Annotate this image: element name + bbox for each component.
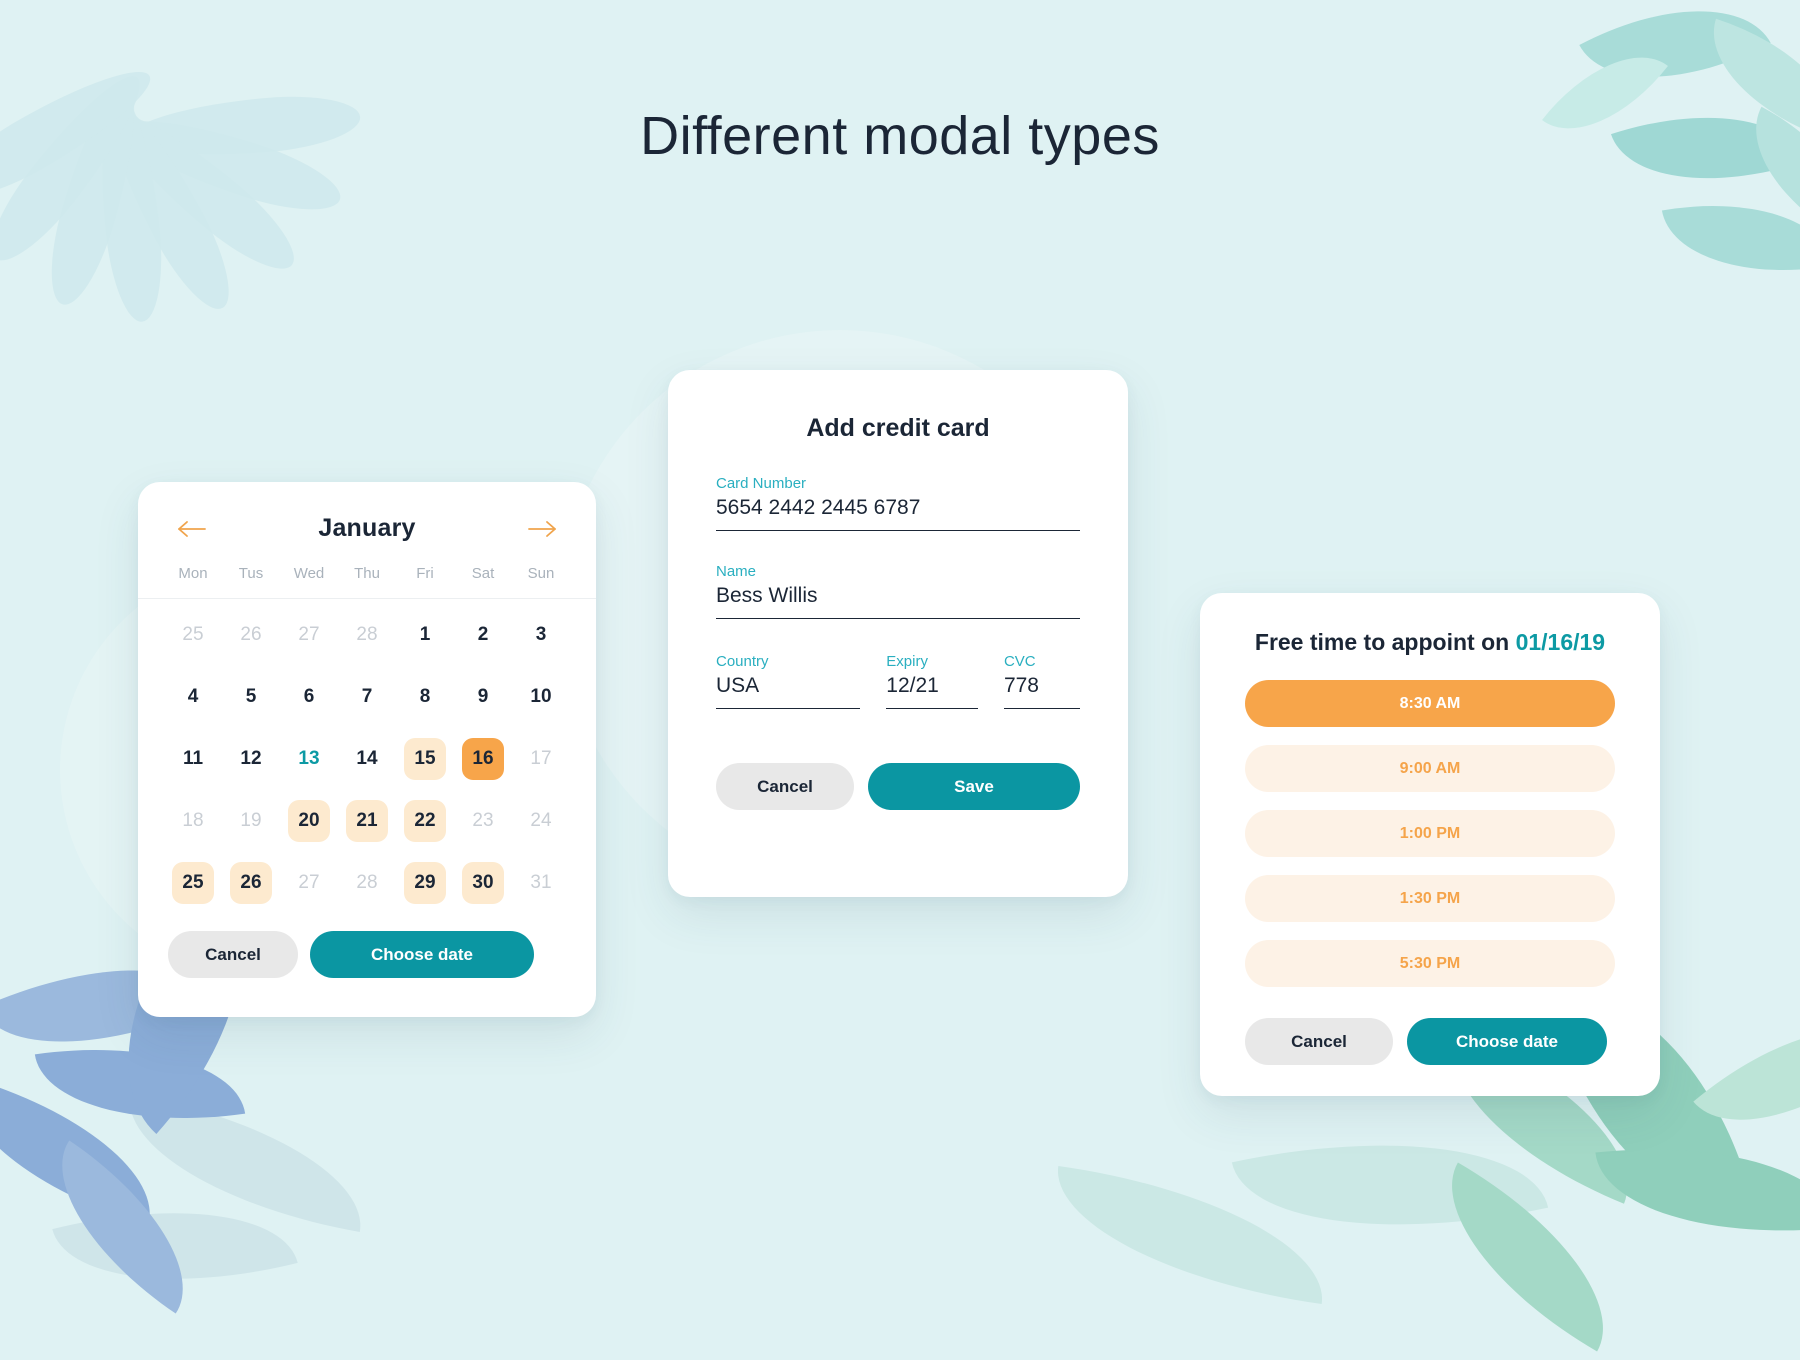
calendar-cancel-button[interactable]: Cancel [168,931,298,978]
calendar-day-cell[interactable]: 21 [338,791,396,851]
cvc-label: CVC [1004,653,1080,670]
credit-card-save-button[interactable]: Save [868,763,1080,810]
calendar-day-cell[interactable]: 7 [338,667,396,727]
calendar-weekday-row: MonTusWedThuFriSatSun [138,543,596,599]
time-slot[interactable]: 1:00 PM [1245,810,1615,857]
calendar-modal: January MonTusWedThuFriSatSun 2526272812… [138,482,596,1017]
calendar-day-label: 10 [520,676,562,718]
calendar-day-cell: 25 [164,605,222,665]
calendar-weekday-fri: Fri [396,565,454,598]
calendar-day-grid: 2526272812345678910111213141516171819202… [138,599,596,913]
time-slot[interactable]: 1:30 PM [1245,875,1615,922]
calendar-day-label: 25 [172,862,214,904]
calendar-day-label: 3 [520,614,562,656]
calendar-day-cell: 19 [222,791,280,851]
name-input[interactable]: Bess Willis [716,584,1080,619]
calendar-day-label: 27 [288,614,330,656]
expiry-input[interactable]: 12/21 [886,674,978,709]
calendar-day-label: 18 [172,800,214,842]
appointment-modal: Free time to appoint on 01/16/19 8:30 AM… [1200,593,1660,1096]
name-label: Name [716,563,1080,580]
calendar-day-label: 17 [520,738,562,780]
country-label: Country [716,653,860,670]
arrow-left-icon[interactable] [175,517,209,541]
calendar-weekday-wed: Wed [280,565,338,598]
calendar-day-label: 22 [404,800,446,842]
appointment-date: 01/16/19 [1516,629,1606,655]
time-slot[interactable]: 5:30 PM [1245,940,1615,987]
calendar-month-label: January [318,514,415,543]
credit-card-modal: Add credit card Card Number 5654 2442 24… [668,370,1128,897]
page-title: Different modal types [0,105,1800,167]
calendar-day-cell[interactable]: 3 [512,605,570,665]
calendar-day-cell[interactable]: 30 [454,853,512,913]
calendar-day-label: 16 [462,738,504,780]
calendar-day-label: 28 [346,862,388,904]
calendar-day-cell[interactable]: 15 [396,729,454,789]
calendar-day-cell[interactable]: 9 [454,667,512,727]
calendar-day-label: 21 [346,800,388,842]
calendar-day-label: 23 [462,800,504,842]
appointment-title: Free time to appoint on 01/16/19 [1200,593,1660,656]
calendar-day-label: 9 [462,676,504,718]
card-meta-row: Country USA Expiry 12/21 CVC 778 [716,653,1080,709]
calendar-day-label: 30 [462,862,504,904]
appointment-title-prefix: Free time to appoint on [1255,629,1516,655]
calendar-day-cell[interactable]: 8 [396,667,454,727]
calendar-day-label: 2 [462,614,504,656]
credit-card-fields: Card Number 5654 2442 2445 6787 Name Bes… [668,475,1128,709]
calendar-day-cell[interactable]: 22 [396,791,454,851]
appointment-cancel-button[interactable]: Cancel [1245,1018,1393,1065]
calendar-day-cell[interactable]: 10 [512,667,570,727]
calendar-day-label: 27 [288,862,330,904]
calendar-day-label: 25 [172,614,214,656]
calendar-weekday-tus: Tus [222,565,280,598]
calendar-day-cell[interactable]: 26 [222,853,280,913]
calendar-day-label: 19 [230,800,272,842]
calendar-day-label: 15 [404,738,446,780]
calendar-day-cell: 18 [164,791,222,851]
expiry-field[interactable]: Expiry 12/21 [886,653,978,709]
calendar-day-cell[interactable]: 4 [164,667,222,727]
credit-card-actions: Cancel Save [668,709,1128,810]
calendar-day-label: 26 [230,614,272,656]
calendar-day-cell: 17 [512,729,570,789]
calendar-day-cell: 26 [222,605,280,665]
card-number-input[interactable]: 5654 2442 2445 6787 [716,496,1080,531]
calendar-day-cell: 28 [338,605,396,665]
calendar-day-label: 1 [404,614,446,656]
calendar-day-label: 13 [288,738,330,780]
country-input[interactable]: USA [716,674,860,709]
calendar-day-cell: 28 [338,853,396,913]
time-slot[interactable]: 9:00 AM [1245,745,1615,792]
calendar-day-label: 11 [172,738,214,780]
calendar-day-cell[interactable]: 25 [164,853,222,913]
calendar-day-cell[interactable]: 16 [454,729,512,789]
country-field[interactable]: Country USA [716,653,860,709]
calendar-choose-date-button[interactable]: Choose date [310,931,534,978]
calendar-day-cell: 23 [454,791,512,851]
calendar-day-label: 31 [520,862,562,904]
calendar-day-cell: 24 [512,791,570,851]
calendar-actions: Cancel Choose date [138,913,596,978]
calendar-day-cell[interactable]: 29 [396,853,454,913]
card-number-label: Card Number [716,475,1080,492]
calendar-day-label: 6 [288,676,330,718]
calendar-day-label: 4 [172,676,214,718]
calendar-day-label: 12 [230,738,272,780]
credit-card-title: Add credit card [668,370,1128,443]
expiry-label: Expiry [886,653,978,670]
calendar-day-label: 7 [346,676,388,718]
calendar-day-label: 8 [404,676,446,718]
calendar-weekday-sun: Sun [512,565,570,598]
calendar-day-cell[interactable]: 1 [396,605,454,665]
cvc-input[interactable]: 778 [1004,674,1080,709]
calendar-day-label: 14 [346,738,388,780]
calendar-day-label: 29 [404,862,446,904]
cvc-field[interactable]: CVC 778 [1004,653,1080,709]
time-slot[interactable]: 8:30 AM [1245,680,1615,727]
credit-card-cancel-button[interactable]: Cancel [716,763,854,810]
appointment-choose-date-button[interactable]: Choose date [1407,1018,1607,1065]
calendar-weekday-sat: Sat [454,565,512,598]
calendar-day-cell[interactable]: 13 [280,729,338,789]
calendar-day-label: 28 [346,614,388,656]
calendar-day-cell[interactable]: 11 [164,729,222,789]
calendar-day-cell[interactable]: 14 [338,729,396,789]
calendar-header: January [138,482,596,543]
calendar-weekday-thu: Thu [338,565,396,598]
calendar-weekday-mon: Mon [164,565,222,598]
calendar-day-label: 26 [230,862,272,904]
card-number-field[interactable]: Card Number 5654 2442 2445 6787 [716,475,1080,531]
time-slot-list: 8:30 AM9:00 AM1:00 PM1:30 PM5:30 PM [1200,656,1660,987]
calendar-day-cell[interactable]: 5 [222,667,280,727]
calendar-day-label: 5 [230,676,272,718]
calendar-day-cell[interactable]: 20 [280,791,338,851]
calendar-day-label: 20 [288,800,330,842]
arrow-right-icon[interactable] [525,517,559,541]
calendar-day-cell[interactable]: 12 [222,729,280,789]
calendar-day-cell[interactable]: 6 [280,667,338,727]
calendar-day-cell: 31 [512,853,570,913]
calendar-day-cell: 27 [280,605,338,665]
appointment-actions: Cancel Choose date [1200,1005,1660,1065]
calendar-day-cell: 27 [280,853,338,913]
calendar-day-label: 24 [520,800,562,842]
name-field[interactable]: Name Bess Willis [716,563,1080,619]
calendar-day-cell[interactable]: 2 [454,605,512,665]
